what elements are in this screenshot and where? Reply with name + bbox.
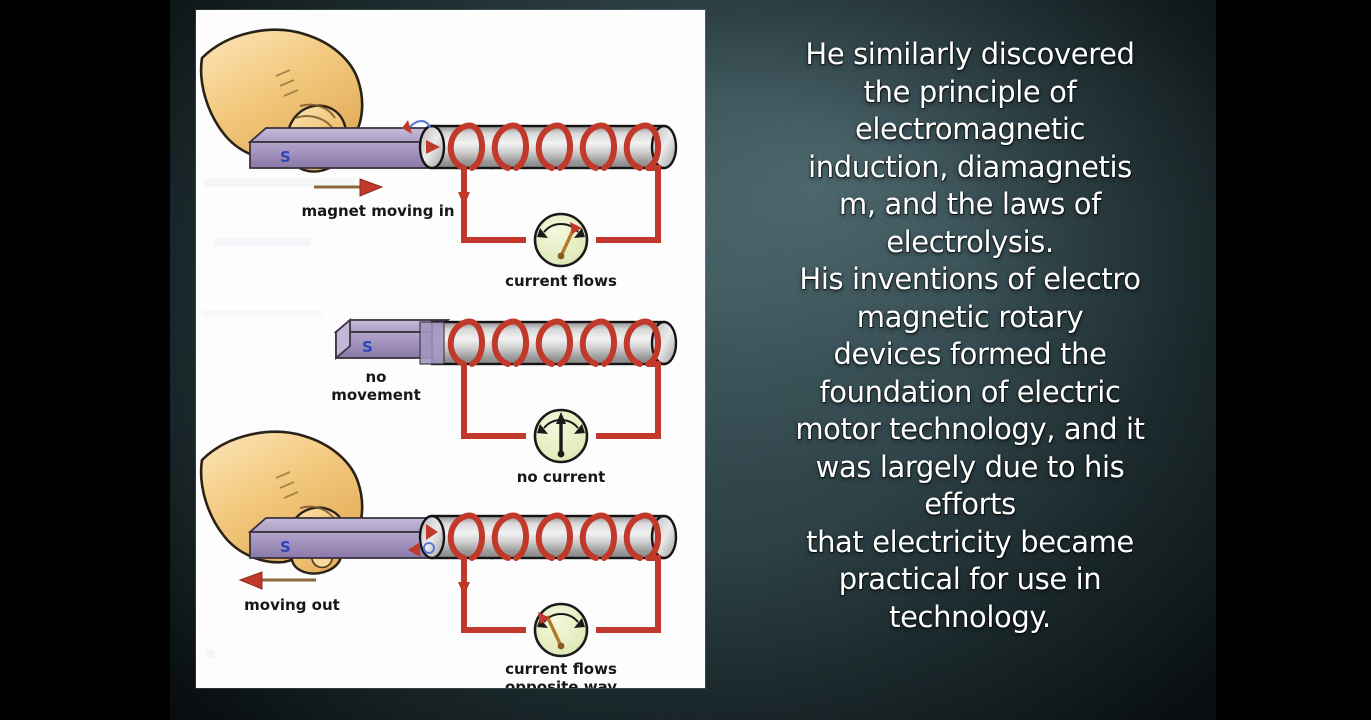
label-magnet-moving-in: magnet moving in bbox=[301, 202, 454, 220]
label-moving-out: moving out bbox=[244, 596, 340, 614]
meter-middle bbox=[535, 410, 587, 462]
figure-card: S N magnet moving in bbox=[196, 10, 705, 688]
narration-text: He similarly discovered the principle of… bbox=[770, 36, 1170, 636]
meter-bottom bbox=[535, 604, 587, 656]
label-no-movement-line1: no bbox=[366, 368, 387, 386]
svg-text:S: S bbox=[362, 338, 373, 356]
label-no-current: no current bbox=[517, 468, 606, 486]
meter-top bbox=[535, 214, 587, 266]
label-current-flows-top: current flows bbox=[505, 272, 617, 290]
letterbox-bar-right bbox=[1216, 0, 1371, 720]
label-no-movement-line2: movement bbox=[331, 386, 421, 404]
svg-text:S: S bbox=[280, 148, 291, 166]
label-current-flows-opposite-line2: opposite way bbox=[505, 678, 617, 688]
letterbox-bar-left bbox=[0, 0, 170, 720]
label-current-flows-opposite-line1: current flows bbox=[505, 660, 617, 678]
slide-root: S N magnet moving in bbox=[0, 0, 1371, 720]
electromagnetic-induction-diagram: S N magnet moving in bbox=[196, 10, 705, 688]
svg-text:S: S bbox=[280, 538, 291, 556]
